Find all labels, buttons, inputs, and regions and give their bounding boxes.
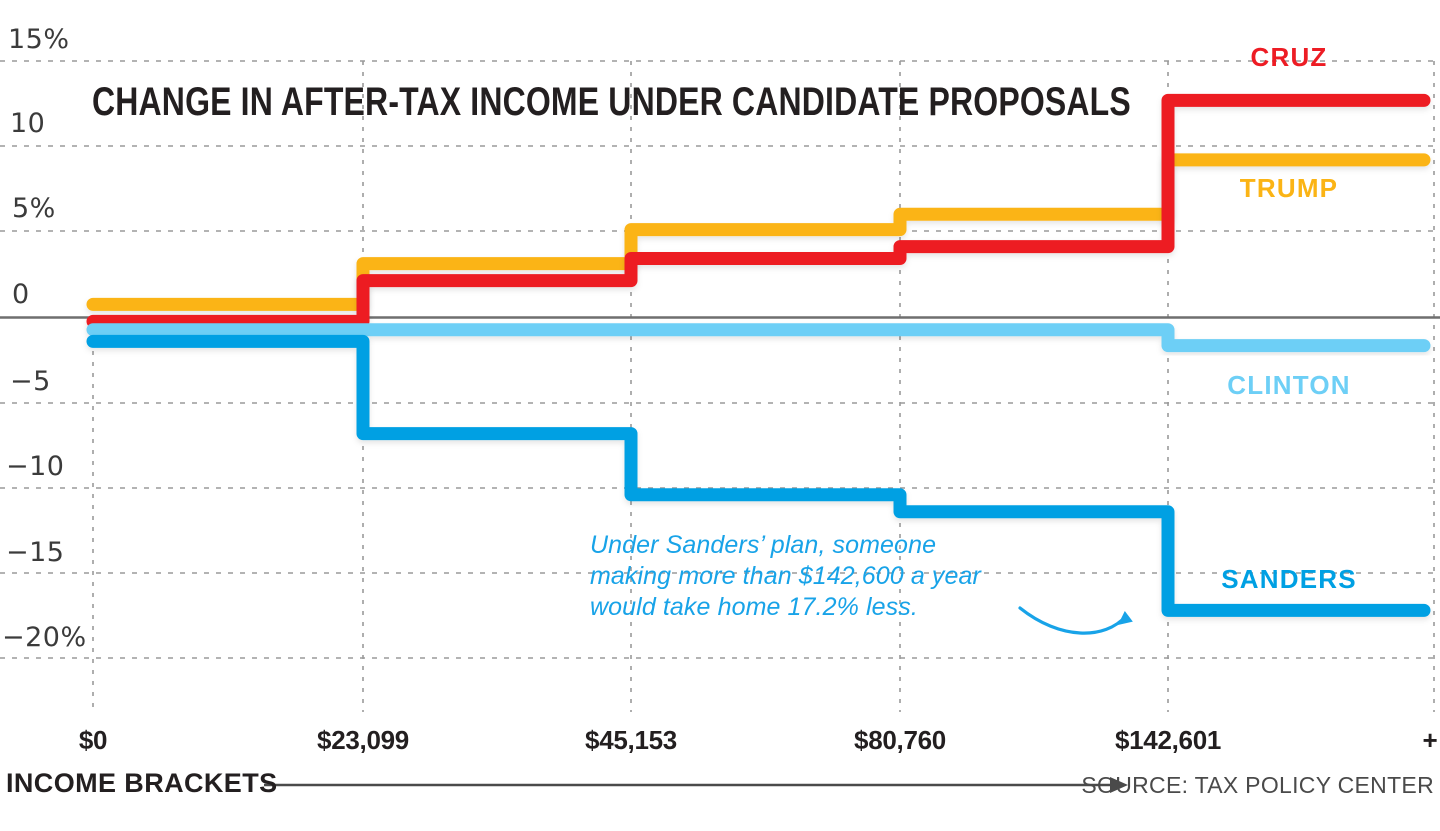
series-label-trump: TRUMP [1240, 173, 1338, 204]
x-tick-label: $23,099 [317, 725, 409, 756]
y-tick-label: 10 [10, 108, 45, 139]
x-tick-label: $45,153 [585, 725, 677, 756]
annotation-arrow [1020, 608, 1133, 633]
source-credit: SOURCE: TAX POLICY CENTER [1081, 772, 1434, 799]
y-tick-label: −15 [6, 537, 64, 568]
y-tick-label: −20% [2, 622, 87, 653]
x-tick-label: $80,760 [854, 725, 946, 756]
x-tick-label: $142,601 [1115, 725, 1221, 756]
chart-title: CHANGE IN AFTER-TAX INCOME UNDER CANDIDA… [92, 82, 1131, 122]
series-label-cruz: CRUZ [1250, 42, 1327, 73]
x-tick-label: + [1423, 725, 1438, 756]
sanders-annotation: Under Sanders’ plan, someone making more… [590, 530, 1020, 623]
y-tick-label: 15% [8, 24, 70, 55]
chart-plot-area: 15% 10 5% 0 −5 −10 −15 −20% $0 $23,099 $… [0, 0, 1440, 831]
series-label-sanders: SANDERS [1221, 564, 1357, 595]
y-tick-label: −10 [6, 451, 64, 482]
series-label-clinton: CLINTON [1227, 370, 1350, 401]
y-tick-label: 0 [12, 279, 30, 310]
y-tick-label: −5 [10, 366, 51, 397]
x-tick-label: $0 [79, 725, 107, 756]
x-axis-title: INCOME BRACKETS [6, 768, 278, 799]
chart-svg [0, 0, 1440, 831]
income-brackets-arrow [264, 777, 1128, 793]
series-line-trump [93, 160, 1424, 305]
series-line-cruz [93, 100, 1424, 321]
y-tick-label: 5% [12, 193, 56, 224]
